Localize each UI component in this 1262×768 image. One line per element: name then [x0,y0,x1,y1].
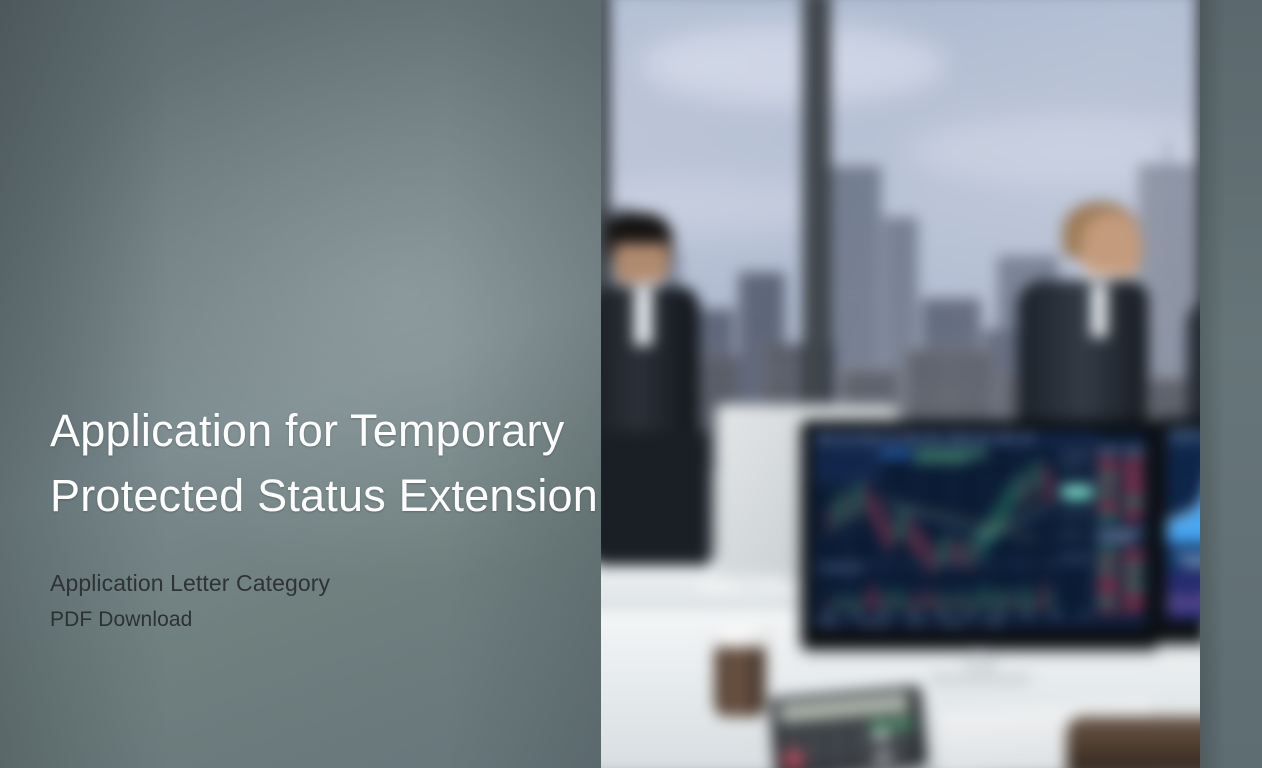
calculator [770,686,927,768]
trading-monitor [801,421,1158,649]
right-wall-strip [1200,0,1262,768]
background-monitor [595,431,709,566]
cover-subtitle: Application Letter Category [50,566,610,600]
trading-screen [813,432,1148,628]
page-title: Application for Temporary Protected Stat… [50,398,610,528]
window-mullion [803,0,830,472]
cover-download-label: PDF Download [50,604,610,636]
mouse [695,582,742,602]
cover-page: Application for Temporary Protected Stat… [0,0,1262,768]
quote-panel [1094,432,1147,628]
left-wall-panel [0,0,601,768]
cover-text-block: Application for Temporary Protected Stat… [50,398,610,636]
